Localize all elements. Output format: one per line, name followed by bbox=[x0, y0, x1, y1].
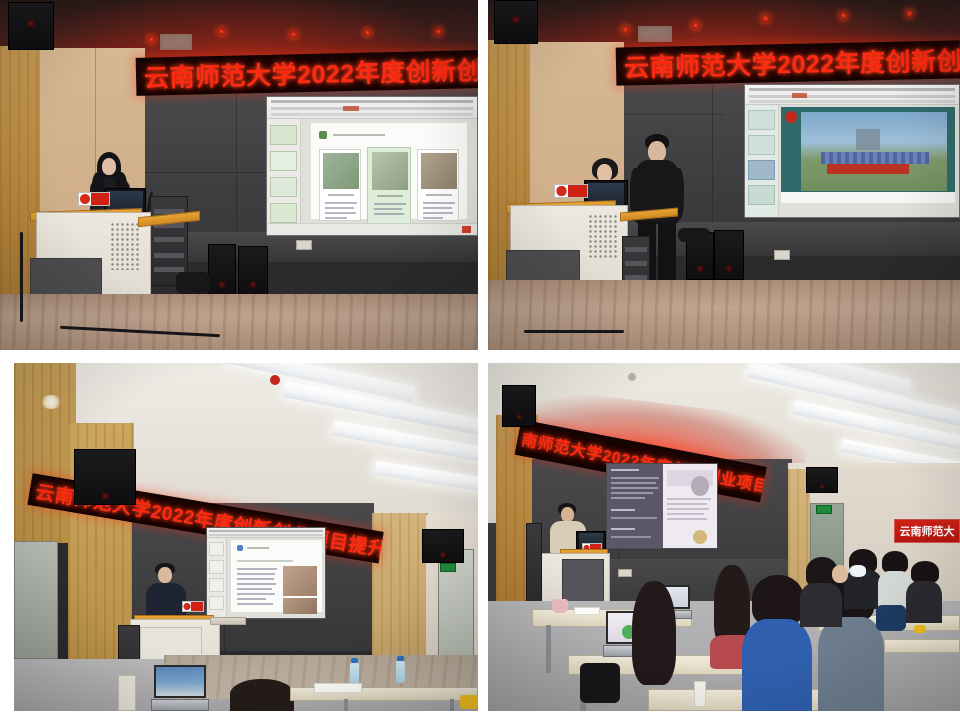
ceiling-light-icon bbox=[840, 12, 847, 19]
floor-speaker bbox=[208, 244, 236, 296]
ceiling-light-icon bbox=[622, 26, 629, 33]
laptop[interactable] bbox=[154, 665, 206, 711]
led-banner-text: 云南师范大学2022年度创新创业项目 bbox=[616, 40, 960, 84]
led-banner-text: 云南师范大学2022年度创新创业项目 bbox=[136, 50, 478, 95]
backpack bbox=[580, 663, 620, 703]
ceiling-light-icon bbox=[148, 36, 155, 43]
ceiling-light-icon bbox=[290, 31, 297, 38]
ceiling-light-icon bbox=[762, 15, 769, 22]
photo-collage: 云南师范大学2022年度创新创业项目 bbox=[0, 0, 960, 720]
projection-screen-bottom-left bbox=[206, 527, 326, 619]
paper-sheet bbox=[574, 607, 600, 615]
lectern-grille bbox=[110, 222, 140, 270]
floor-speaker bbox=[714, 230, 744, 280]
slide-photo bbox=[283, 598, 317, 614]
slide-card bbox=[367, 147, 411, 225]
ceiling-light-icon bbox=[906, 10, 913, 17]
slide-card bbox=[319, 149, 361, 221]
equipment-bag bbox=[678, 228, 710, 242]
lectern-side-shelf bbox=[210, 617, 246, 625]
lectern-sign bbox=[78, 192, 110, 206]
lectern-panel bbox=[562, 559, 604, 603]
exit-sign bbox=[440, 563, 456, 572]
yellow-object bbox=[460, 695, 478, 709]
floor-cable bbox=[524, 330, 624, 333]
equipment-rack bbox=[526, 523, 542, 607]
desk-leg bbox=[546, 625, 551, 673]
ceiling-light-icon bbox=[218, 28, 225, 35]
audience-person bbox=[632, 581, 676, 701]
milk-carton bbox=[694, 681, 706, 707]
wall-outlet bbox=[296, 240, 312, 250]
ceiling-speaker bbox=[806, 467, 838, 493]
led-banner-top-left: 云南师范大学2022年度创新创业项目 bbox=[136, 50, 478, 96]
audience-person bbox=[906, 561, 942, 623]
yellow-object bbox=[914, 625, 926, 633]
audience-desk bbox=[884, 639, 960, 653]
wall-outlet bbox=[774, 250, 790, 260]
ceiling-light-icon bbox=[692, 22, 699, 29]
ceiling-light-icon bbox=[435, 28, 442, 35]
wall-outlet bbox=[618, 569, 632, 577]
water-bottle bbox=[396, 661, 405, 683]
audience-person-back bbox=[230, 679, 294, 711]
audience-person bbox=[828, 563, 858, 603]
equipment-bag bbox=[176, 272, 210, 294]
wall-banner-bottom-right: 云南师范大 bbox=[894, 519, 960, 543]
cup bbox=[552, 599, 568, 613]
exit-sign bbox=[816, 505, 832, 514]
projection-screen-top-right bbox=[744, 84, 960, 218]
ceiling-speaker bbox=[502, 385, 536, 427]
photo-top-left[interactable]: 云南师范大学2022年度创新创业项目 bbox=[0, 0, 478, 350]
ceiling-speaker bbox=[494, 0, 538, 44]
water-bottle bbox=[350, 663, 359, 685]
floor-speaker bbox=[238, 246, 268, 296]
ceiling-speaker bbox=[8, 2, 54, 50]
photo-bottom-right[interactable]: 南师范大学2022年度创新创业项目提升训练营 云南师范大 bbox=[488, 363, 960, 711]
photo-top-right[interactable]: 云南师范大学2022年度创新创业项目 bbox=[488, 0, 960, 350]
slide-card bbox=[417, 149, 459, 221]
paper-sheet bbox=[314, 683, 362, 693]
projection-screen-bottom-right bbox=[606, 463, 718, 549]
slide-photo bbox=[283, 566, 317, 596]
led-banner-top-right: 云南师范大学2022年度创新创业项目 bbox=[616, 40, 960, 85]
desk-leg bbox=[450, 699, 454, 711]
door[interactable] bbox=[14, 541, 58, 659]
ceiling-downlight bbox=[40, 395, 62, 409]
wall-banner-text: 云南师范大 bbox=[900, 523, 955, 539]
lectern-sign bbox=[182, 601, 204, 612]
paper-roll bbox=[118, 675, 136, 711]
ceiling-speaker bbox=[422, 529, 464, 563]
slide-group-photo bbox=[801, 112, 947, 191]
lectern-sign bbox=[554, 184, 588, 198]
photo-bottom-left[interactable]: 云南师范大学2022年度创新创业项目提升训练营 bbox=[14, 363, 478, 711]
ceiling-light-icon bbox=[364, 29, 371, 36]
floor-cable bbox=[20, 232, 23, 322]
backpack bbox=[876, 605, 906, 631]
ceiling-speaker bbox=[74, 449, 136, 505]
desk-leg bbox=[344, 699, 348, 711]
lectern-grille bbox=[588, 214, 618, 260]
projection-screen-top-left bbox=[266, 96, 478, 236]
